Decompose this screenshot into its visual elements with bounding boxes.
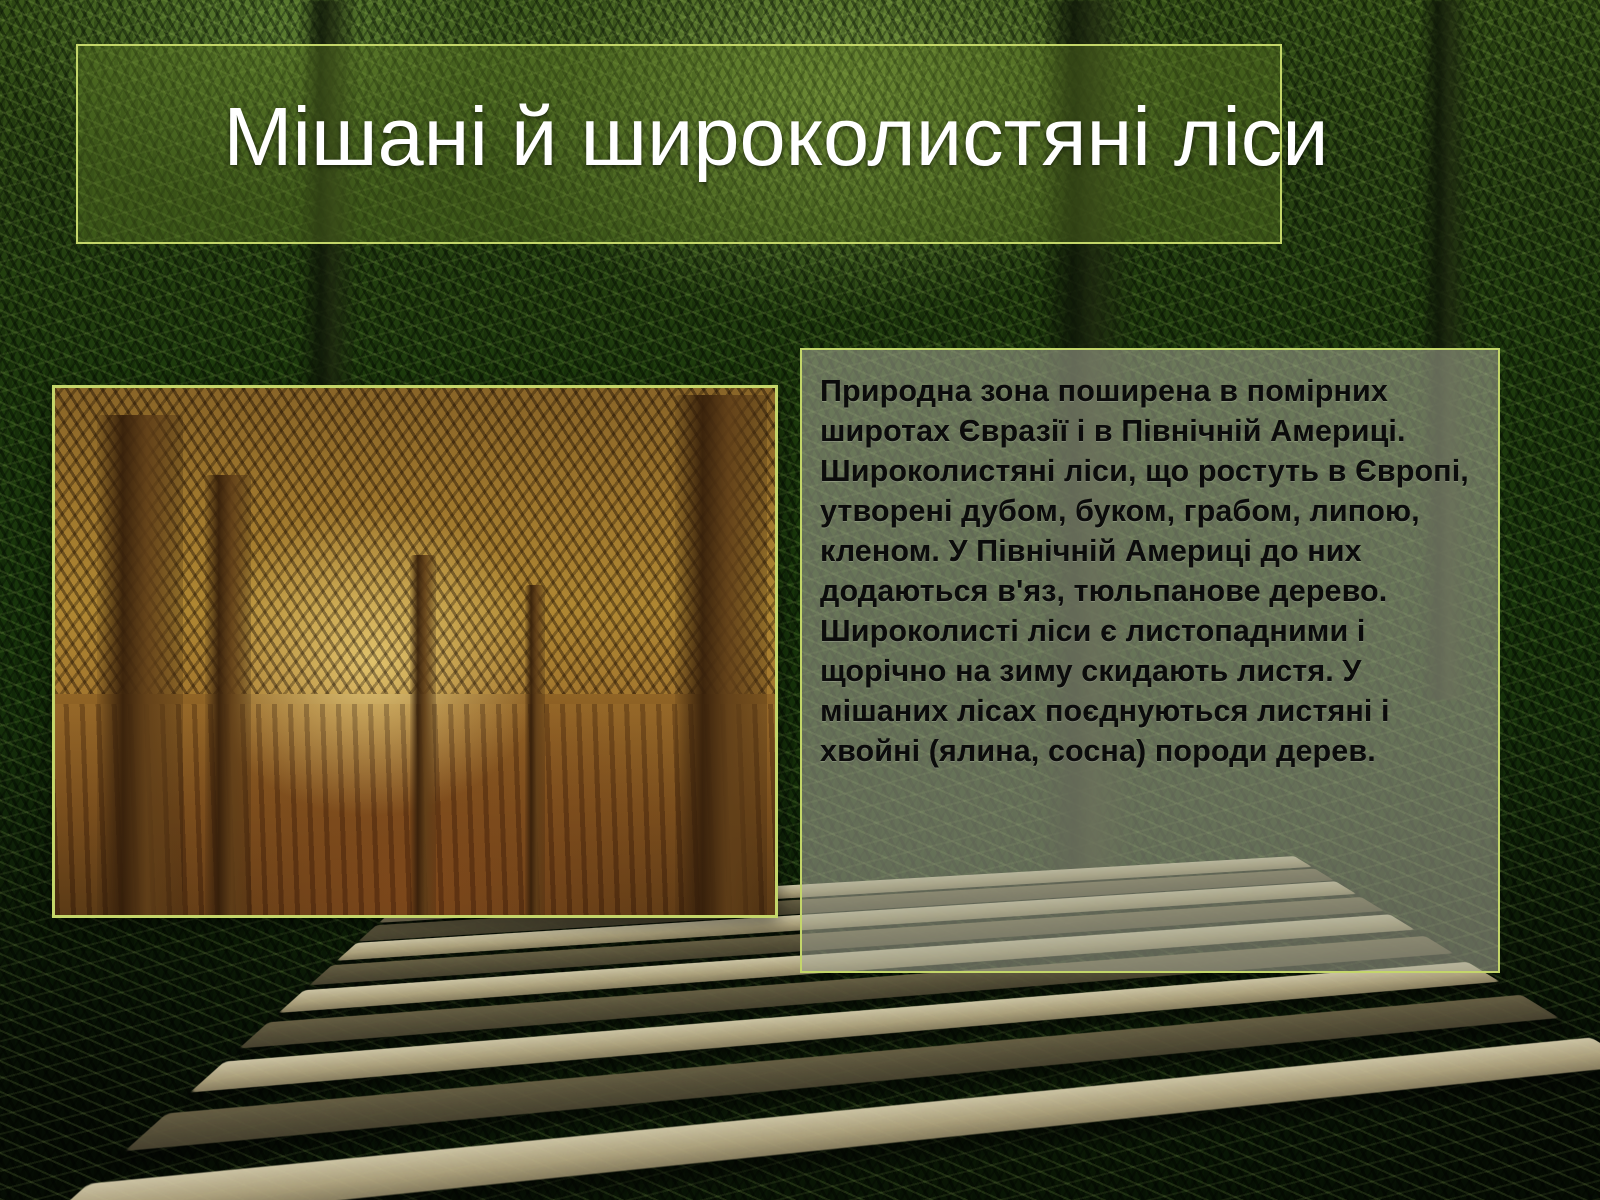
photo-tree-trunk-mid — [410, 555, 436, 915]
page-title: Мішані й широколистяні ліси — [76, 95, 1476, 178]
description-text: Природна зона поширена в помірних широта… — [820, 372, 1472, 772]
photo-tree-trunk-mid-right — [525, 585, 545, 915]
description-panel: Природна зона поширена в помірних широта… — [800, 348, 1500, 973]
photo-tree-trunk-left — [97, 415, 183, 915]
photo-tree-trunk-right — [675, 395, 767, 915]
presentation-slide: Мішані й широколистяні ліси Природна зон… — [0, 0, 1600, 1200]
photo-tree-trunk-left-inner — [205, 475, 251, 915]
forest-photo-frame — [52, 385, 778, 918]
